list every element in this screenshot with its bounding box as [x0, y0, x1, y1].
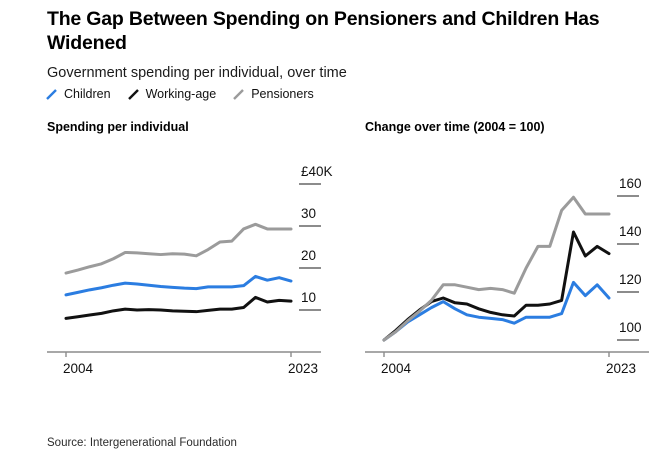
y-axis-tick-label: 140: [619, 225, 642, 239]
chart-page: The Gap Between Spending on Pensioners a…: [0, 0, 669, 473]
y-axis-tick-label: 120: [619, 273, 642, 287]
x-axis-tick-label: 2023: [288, 362, 318, 376]
slash-line-icon: [232, 88, 245, 101]
x-axis-tick-label: 2004: [63, 362, 93, 376]
plot-area-right: 10012014016020042023: [365, 146, 665, 378]
y-axis-tick-label: 30: [301, 207, 316, 221]
series-line-children: [66, 276, 291, 294]
legend-item-working-age[interactable]: Working-age: [127, 88, 217, 101]
y-axis-tick-label: £40K: [301, 165, 333, 179]
page-title: The Gap Between Spending on Pensioners a…: [47, 8, 647, 56]
page-subtitle: Government spending per individual, over…: [47, 65, 647, 82]
x-axis-tick-label: 2023: [606, 362, 636, 376]
y-axis-tick-label: 10: [301, 291, 316, 305]
legend-item-children[interactable]: Children: [45, 88, 111, 101]
chart-legend: Children Working-age Pensioners: [45, 88, 314, 101]
panel-change-over-time: Change over time (2004 = 100) 1001201401…: [365, 120, 665, 135]
slash-line-icon: [45, 88, 58, 101]
x-axis-tick-label: 2004: [381, 362, 411, 376]
legend-label-working-age: Working-age: [146, 88, 217, 101]
legend-item-pensioners[interactable]: Pensioners: [232, 88, 314, 101]
legend-label-children: Children: [64, 88, 111, 101]
source-note: Source: Intergenerational Foundation: [47, 437, 237, 451]
y-axis-tick-label: 100: [619, 321, 642, 335]
plot-area-left: 102030£40K20042023: [47, 146, 347, 378]
panel-title-right: Change over time (2004 = 100): [365, 120, 665, 135]
series-line-pensioners: [66, 224, 291, 273]
panel-title-left: Spending per individual: [47, 120, 347, 135]
legend-label-pensioners: Pensioners: [251, 88, 314, 101]
chart-header: The Gap Between Spending on Pensioners a…: [47, 8, 647, 82]
series-line-working-age: [66, 297, 291, 318]
y-axis-tick-label: 20: [301, 249, 316, 263]
panel-spending-per-individual: Spending per individual 102030£40K200420…: [47, 120, 347, 135]
y-axis-tick-label: 160: [619, 177, 642, 191]
slash-line-icon: [127, 88, 140, 101]
